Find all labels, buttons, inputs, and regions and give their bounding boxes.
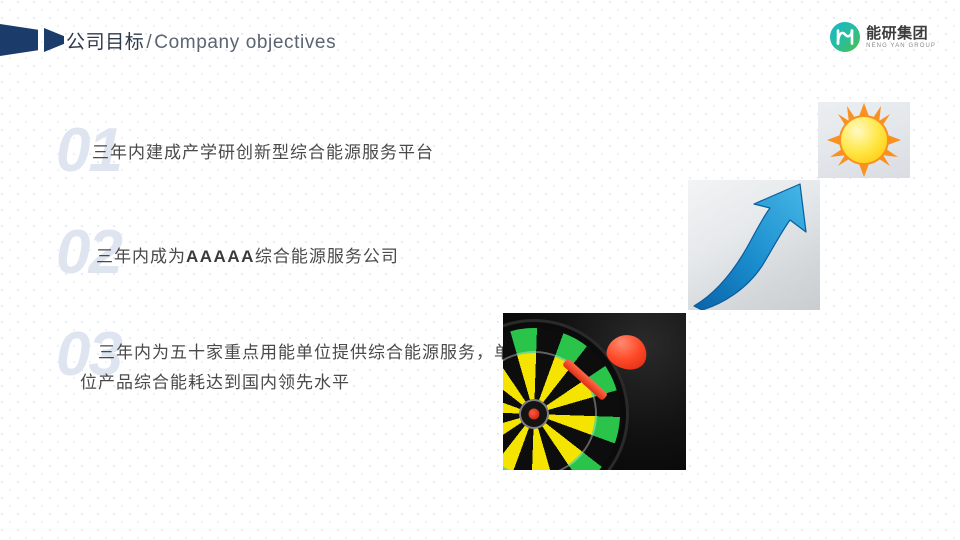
company-logo-icon (830, 22, 860, 52)
objective-item-01: 01 三年内建成产学研创新型综合能源服务平台 (56, 118, 526, 180)
objective-text-02-after: 综合能源服务公司 (255, 247, 399, 266)
page-title: 公司目标/Company objectives (66, 27, 336, 54)
dartboard-image (503, 313, 686, 470)
page-title-separator: / (144, 32, 154, 53)
page-title-chinese: 公司目标 (66, 32, 144, 53)
page-title-english: Company objectives (154, 32, 336, 53)
company-name-chinese: 能研集团 (866, 26, 936, 41)
growth-arrow-image (688, 180, 820, 310)
header-ribbon-decoration (0, 24, 64, 56)
objective-text-01: 三年内建成产学研创新型综合能源服务平台 (56, 118, 526, 168)
objective-item-02: 02 三年内成为AAAAA综合能源服务公司 (56, 220, 526, 282)
objective-text-02: 三年内成为AAAAA综合能源服务公司 (56, 220, 526, 272)
objective-text-03: 三年内为五十家重点用能单位提供综合能源服务，单位产品综合能耗达到国内领先水平 (56, 322, 526, 398)
objective-item-03: 03 三年内为五十家重点用能单位提供综合能源服务，单位产品综合能耗达到国内领先水… (56, 322, 526, 432)
sun-image (818, 102, 910, 178)
ribbon-block-large (0, 24, 38, 56)
company-logo-text: 能研集团 NENG YAN GROUP (866, 26, 936, 49)
ribbon-block-small (44, 28, 64, 52)
objective-text-02-before: 三年内成为 (96, 247, 186, 266)
slide-canvas: 公司目标/Company objectives 能研集团 NENG YAN GR… (0, 0, 960, 540)
objective-text-02-emphasis: AAAAA (186, 247, 255, 266)
company-logo: 能研集团 NENG YAN GROUP (830, 22, 936, 52)
objectives-list: 01 三年内建成产学研创新型综合能源服务平台 02 三年内成为AAAAA综合能源… (56, 118, 526, 472)
sun-disc (841, 117, 887, 163)
company-name-english: NENG YAN GROUP (866, 43, 936, 49)
